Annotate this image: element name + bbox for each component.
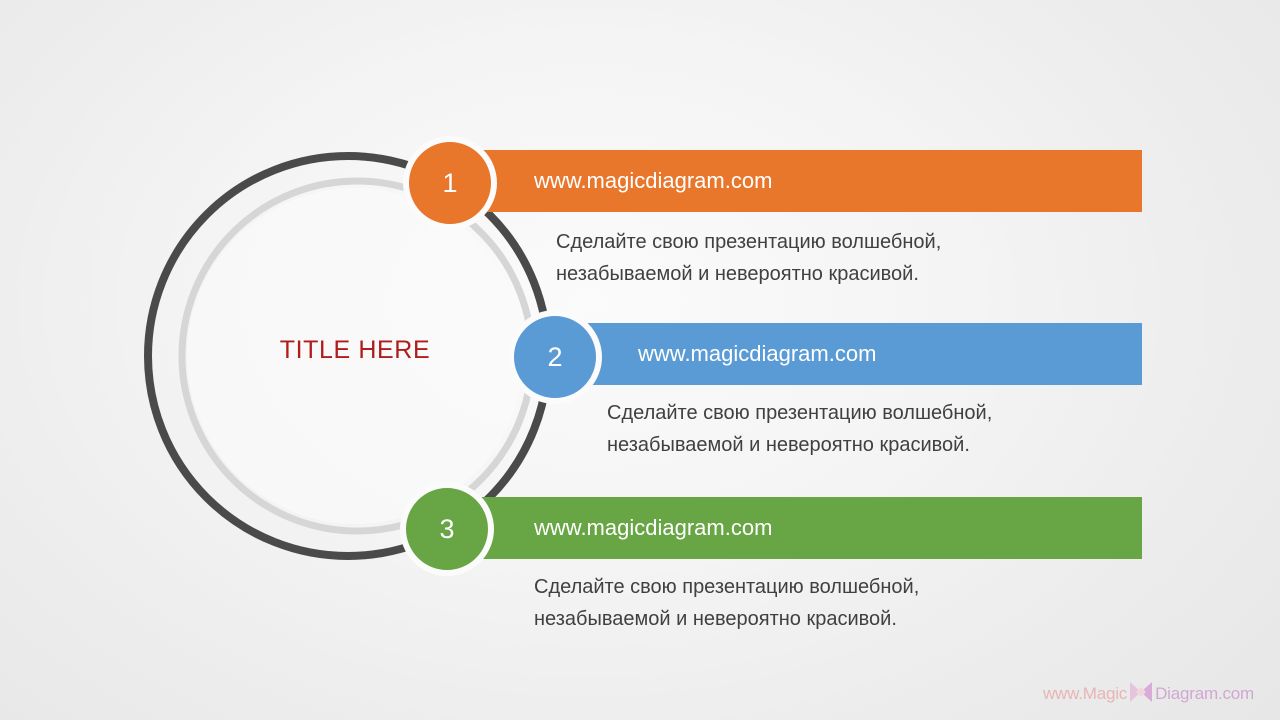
watermark: www.Magic Diagram.com: [1043, 679, 1254, 708]
bowtie-diamond-icon: [1128, 680, 1154, 709]
slide-canvas: TITLE HERE www.magicdiagram.com 1 Сделай…: [0, 0, 1280, 720]
step-circle-2[interactable]: 2: [508, 310, 602, 404]
step-number-label-3: 3: [439, 514, 454, 545]
item-description-3: Сделайте свою презентацию волшебной, нез…: [534, 571, 1074, 635]
item-heading-label-3: www.magicdiagram.com: [534, 515, 772, 541]
step-circle-1[interactable]: 1: [403, 136, 497, 230]
step-number-label-2: 2: [547, 342, 562, 373]
item-description-1: Сделайте свою презентацию волшебной, нез…: [556, 226, 1096, 290]
step-number-label-1: 1: [442, 168, 457, 199]
item-heading-bar-3[interactable]: www.magicdiagram.com: [470, 497, 1142, 559]
watermark-suffix: Diagram.com: [1155, 684, 1254, 704]
item-heading-bar-1[interactable]: www.magicdiagram.com: [470, 150, 1142, 212]
step-circle-3[interactable]: 3: [400, 482, 494, 576]
item-heading-bar-2[interactable]: www.magicdiagram.com: [575, 323, 1142, 385]
item-description-2: Сделайте свою презентацию волшебной, нез…: [607, 397, 1147, 461]
page-title: TITLE HERE: [205, 336, 505, 365]
item-heading-label-2: www.magicdiagram.com: [638, 341, 876, 367]
item-heading-label-1: www.magicdiagram.com: [534, 168, 772, 194]
watermark-prefix: www.Magic: [1043, 684, 1127, 704]
